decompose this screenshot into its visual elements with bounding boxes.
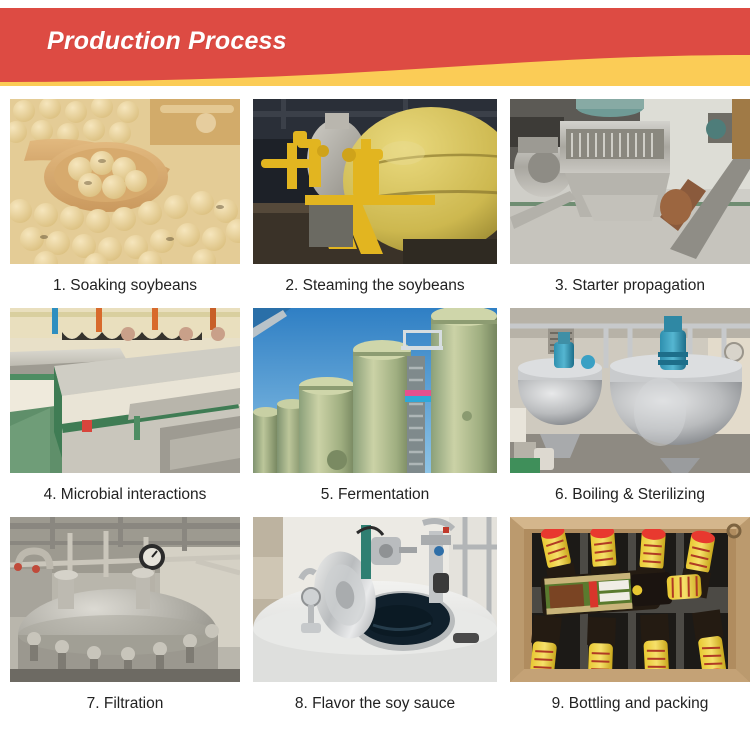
production-process-infographic: Production Process <box>0 0 750 732</box>
fermentation-photo <box>253 308 497 473</box>
flavoring-photo-cell: 8. Flavor the soy sauce <box>253 517 497 726</box>
step-caption: 3. Starter propagation <box>555 264 705 308</box>
process-steps-grid: 1. Soaking soybeans <box>10 99 740 726</box>
microbial-interactions-photo <box>10 308 240 473</box>
bottling-packing-photo <box>510 517 750 682</box>
step-caption: 4. Microbial interactions <box>44 473 207 517</box>
step-caption: 5. Fermentation <box>321 473 430 517</box>
boiling-sterilizing-photo <box>510 308 750 473</box>
process-step-9: 9. Bottling and packing <box>510 517 750 726</box>
step-caption: 7. Filtration <box>87 682 164 726</box>
page-title: Production Process <box>47 27 287 56</box>
filtration-photo <box>10 517 240 682</box>
step-caption: 8. Flavor the soy sauce <box>295 682 455 726</box>
process-step-3: 3. Starter propagation <box>510 99 750 308</box>
process-step-6: 6. Boiling & Sterilizing <box>510 308 750 517</box>
process-step-7: 7. Filtration <box>10 517 240 726</box>
process-step-1: 1. Soaking soybeans <box>10 99 240 308</box>
step-caption: 2. Steaming the soybeans <box>285 264 464 308</box>
process-step-2: 2. Steaming the soybeans <box>253 99 497 308</box>
step-caption: 9. Bottling and packing <box>552 682 709 726</box>
process-step-5: 5. Fermentation <box>253 308 497 517</box>
flavoring-photo <box>253 517 497 682</box>
process-step-4: 4. Microbial interactions <box>10 308 240 517</box>
steaming-soybeans-photo <box>253 99 497 264</box>
soaking-soybeans-photo <box>10 99 240 264</box>
starter-propagation-photo <box>510 99 750 264</box>
step-caption: 6. Boiling & Sterilizing <box>555 473 705 517</box>
header-banner: Production Process <box>0 8 750 86</box>
step-caption: 1. Soaking soybeans <box>53 264 197 308</box>
